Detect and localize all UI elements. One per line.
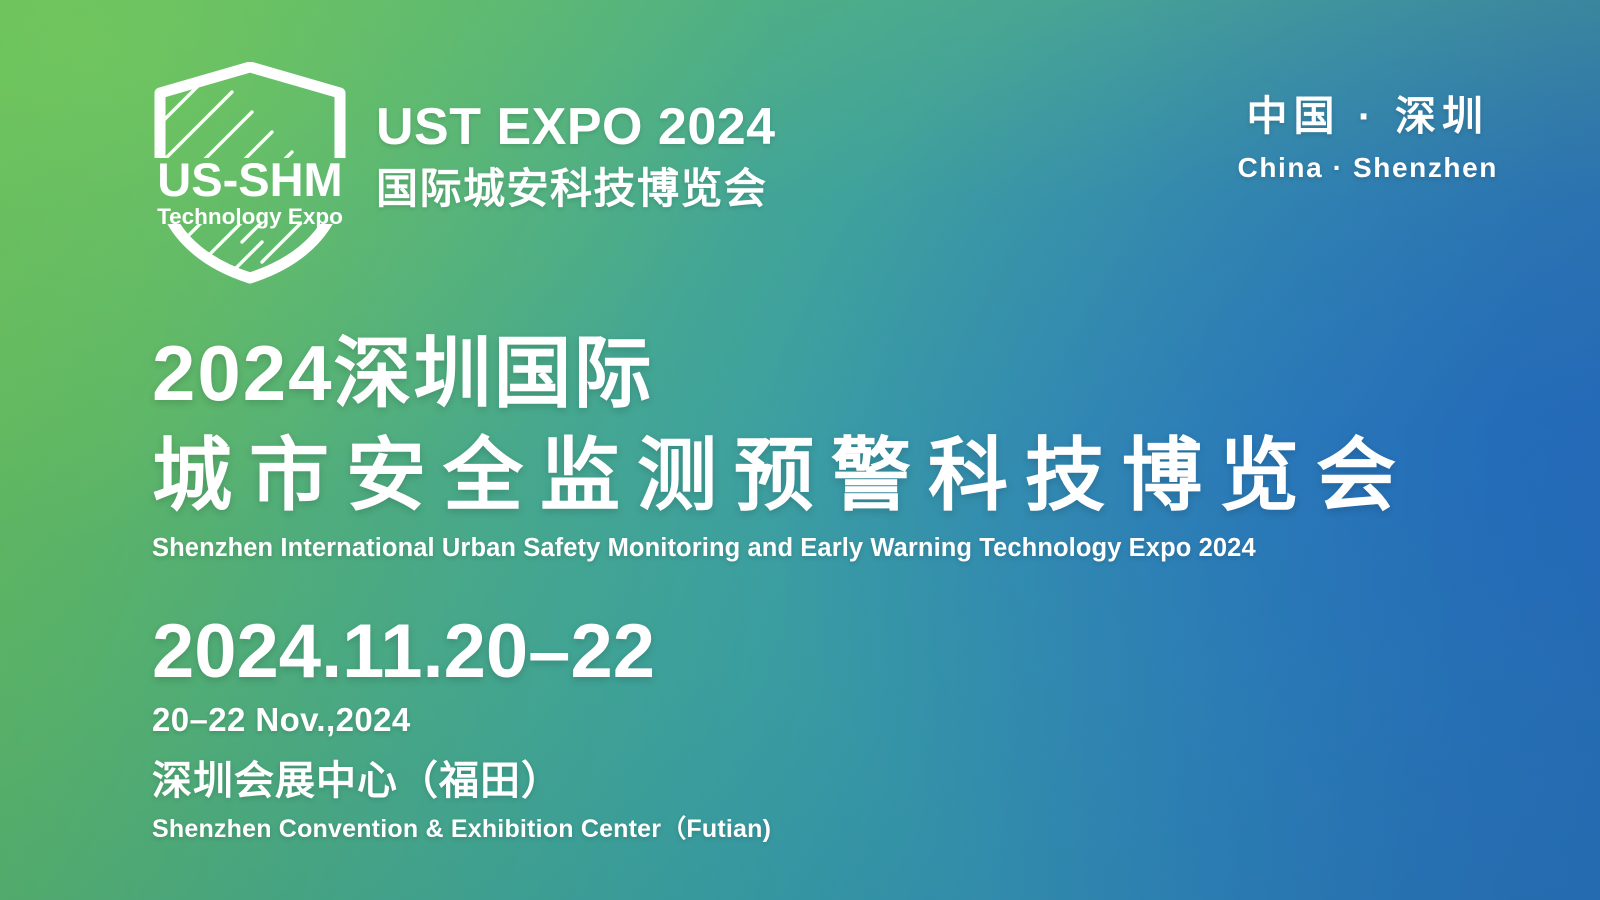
locale-city-en: China · Shenzhen [1238,152,1499,184]
banner-content: US-SHM Technology Expo UST EXPO 2024 国际城… [0,0,1600,900]
locale-city-cn: 中国 · 深圳 [1238,82,1499,142]
brand-text-block: UST EXPO 2024 国际城安科技博览会 [376,62,776,212]
event-details-block: 2024.11.20–22 20–22 Nov.,2024 深圳会展中心（福田）… [152,612,771,844]
event-venue-cn: 深圳会展中心（福田） [152,758,771,804]
logo-acronym-text: US-SHM [157,153,342,206]
event-date-main: 2024.11.20–22 [152,612,771,693]
event-date-en: 20–22 Nov.,2024 [152,702,771,738]
headline-block: 2024深圳国际 城市安全监测预警科技博览会 Shenzhen Internat… [152,330,1452,564]
brand-lockup: US-SHM Technology Expo UST EXPO 2024 国际城… [152,62,776,284]
locale-block: 中国 · 深圳 China · Shenzhen [1238,82,1499,184]
shield-logo-icon: US-SHM Technology Expo [152,62,348,284]
logo-tagline-text: Technology Expo [157,204,343,229]
headline-line-1: 2024深圳国际 [152,330,1452,417]
brand-name-cn: 国际城安科技博览会 [376,165,776,212]
banner-header: US-SHM Technology Expo UST EXPO 2024 国际城… [0,62,1600,312]
expo-promo-banner: US-SHM Technology Expo UST EXPO 2024 国际城… [0,0,1600,900]
event-venue-en: Shenzhen Convention & Exhibition Center（… [152,815,771,844]
brand-name-en: UST EXPO 2024 [376,100,776,155]
headline-subtitle-en: Shenzhen International Urban Safety Moni… [152,533,1452,564]
headline-line-2: 城市安全监测预警科技博览会 [152,431,1452,521]
